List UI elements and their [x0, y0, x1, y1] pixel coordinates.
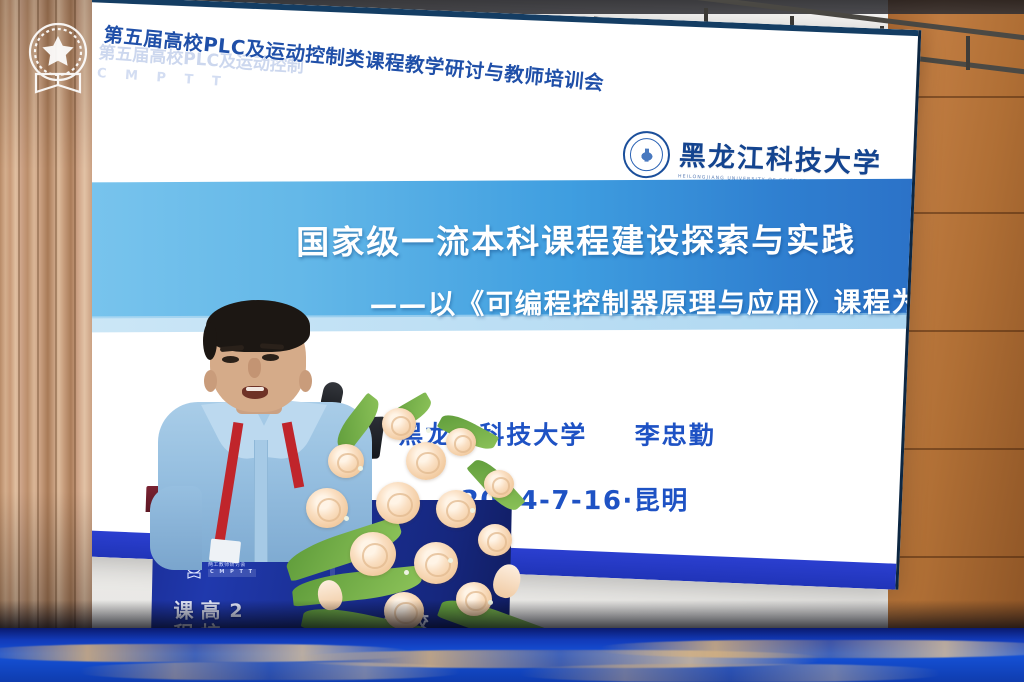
university-name: 黑龙江科技大学: [678, 133, 882, 180]
podium-logo-line2: C M P T T: [208, 569, 256, 577]
speaker-hair: [206, 300, 310, 352]
name-badge: [209, 538, 241, 563]
patterned-carpet: [0, 628, 1024, 682]
university-seal-icon: [622, 130, 671, 179]
conference-photo-stage: 黑龙江科技大学 HEILONGJIANG UNIVERSITY OF SCIEN…: [0, 0, 1024, 682]
speaker-arm: [150, 486, 202, 570]
shirt-placket: [254, 440, 268, 562]
slide-title-subtitle: ——以《可编程控制器原理与应用》课程为例: [370, 279, 922, 322]
slide-title-main: 国家级一流本科课程建设探索与实践: [296, 213, 921, 264]
stage-curtain: [0, 0, 92, 682]
speaker-nose: [248, 358, 261, 378]
star-book-emblem-icon: [18, 16, 98, 100]
presenter-name: 李忠勤: [635, 421, 716, 450]
speaker-mouth: [242, 386, 268, 399]
